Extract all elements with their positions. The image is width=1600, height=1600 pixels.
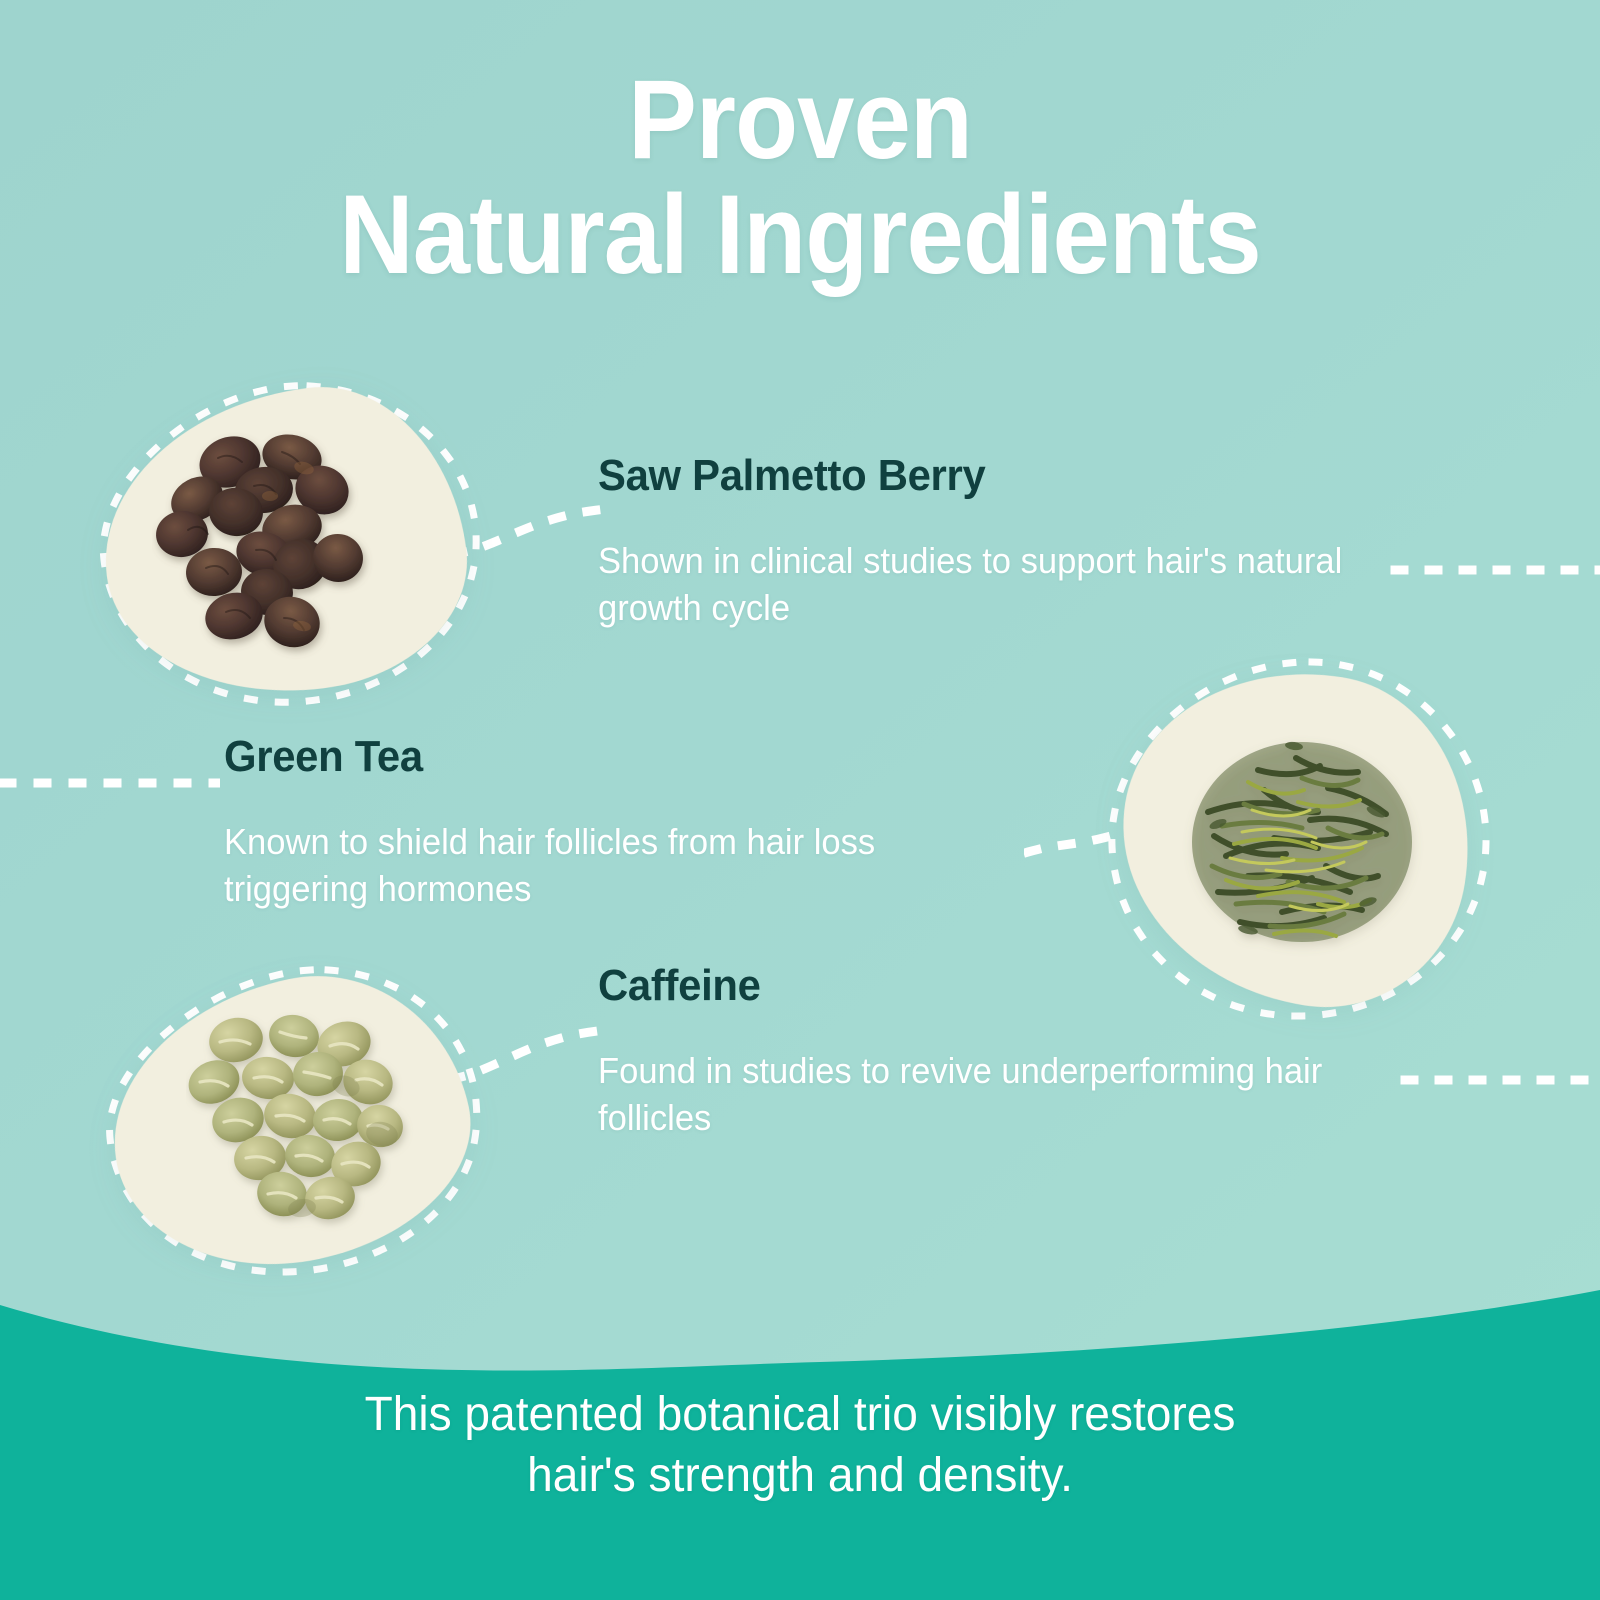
footer-tagline-line-1: This patented botanical trio visibly res… xyxy=(365,1388,1236,1441)
dotted-connector-right-top xyxy=(1390,545,1600,595)
green-coffee-beans-image xyxy=(186,1012,418,1234)
ingredient-description-caffeine: Found in studies to revive underperformi… xyxy=(598,1048,1376,1141)
green-tea-leaves-image xyxy=(1178,716,1426,960)
infographic-canvas: Proven Natural Ingredients xyxy=(0,0,1600,1600)
footer-tagline-line-2: hair's strength and density. xyxy=(527,1449,1073,1502)
ingredient-block-caffeine: Caffeine Found in studies to revive unde… xyxy=(598,962,1408,1141)
ingredient-block-saw-palmetto-berry: Saw Palmetto Berry Shown in clinical stu… xyxy=(598,452,1388,631)
ingredient-name-saw-palmetto-berry: Saw Palmetto Berry xyxy=(598,452,1349,500)
ingredient-name-caffeine: Caffeine xyxy=(598,962,1368,1010)
footer-tagline: This patented botanical trio visibly res… xyxy=(32,1384,1568,1507)
ingredient-block-green-tea: Green Tea Known to shield hair follicles… xyxy=(224,733,1014,912)
ingredient-description-saw-palmetto-berry: Shown in clinical studies to support hai… xyxy=(598,538,1356,631)
dotted-connector-left-middle xyxy=(0,758,220,808)
dotted-connector-caffeine-to-text xyxy=(448,995,618,1085)
page-title: Proven Natural Ingredients xyxy=(0,62,1600,293)
dotted-connector-right-bottom xyxy=(1400,1055,1600,1105)
ingredient-name-green-tea: Green Tea xyxy=(224,733,975,781)
saw-palmetto-berries-image xyxy=(152,424,402,664)
title-line-2: Natural Ingredients xyxy=(64,177,1536,292)
ingredient-description-green-tea: Known to shield hair follicles from hair… xyxy=(224,819,982,912)
title-line-1: Proven xyxy=(64,62,1536,177)
